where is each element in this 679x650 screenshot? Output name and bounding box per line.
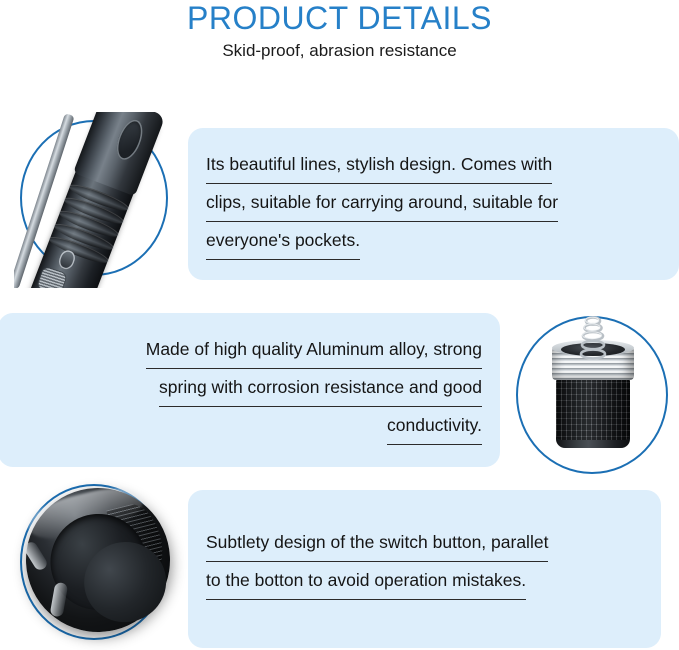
contact-spring-icon	[578, 314, 608, 360]
lanyard-slot	[50, 582, 69, 618]
feature-text-lines: Made of high quality Aluminum alloy, str…	[12, 331, 482, 445]
feature-text-line: Its beautiful lines, stylish design. Com…	[206, 146, 552, 184]
feature-text-line: spring with corrosion resistance and goo…	[159, 369, 482, 407]
feature-text-line: conductivity.	[387, 407, 482, 445]
feature-text-card-clip: Its beautiful lines, stylish design. Com…	[188, 128, 679, 280]
feature-text-lines: Subtlety design of the switch button, pa…	[206, 524, 649, 600]
flashlight-tail-switch-button-photo	[12, 482, 184, 642]
flashlight-barrel-with-pocket-clip-photo	[14, 112, 180, 288]
feature-text-line: clips, suitable for carrying around, sui…	[206, 184, 558, 222]
page-title: PRODUCT DETAILS	[0, 0, 679, 35]
head-oval-recess	[112, 116, 148, 163]
lanyard-slot	[22, 540, 49, 572]
feature-text-line: Subtlety design of the switch button, pa…	[206, 524, 548, 562]
photo-clip-mask	[14, 112, 180, 288]
knurled-grip-texture	[556, 376, 630, 440]
feature-text-lines: Its beautiful lines, stylish design. Com…	[206, 146, 667, 260]
feature-text-card-switch: Subtlety design of the switch button, pa…	[188, 490, 661, 648]
feature-text-line: Made of high quality Aluminum alloy, str…	[146, 331, 482, 369]
flashlight-head-section	[73, 112, 165, 196]
tail-cap-body	[556, 376, 630, 448]
feature-text-card-material: Made of high quality Aluminum alloy, str…	[0, 313, 500, 467]
page-header: PRODUCT DETAILS Skid-proof, abrasion res…	[0, 0, 679, 61]
page-subtitle: Skid-proof, abrasion resistance	[0, 35, 679, 61]
feature-text-line: to the botton to avoid operation mistake…	[206, 562, 526, 600]
feature-text-line: everyone's pockets.	[206, 222, 360, 260]
tail-switch-outer-ring	[11, 473, 186, 648]
flashlight-tail-cap-with-spring-photo	[512, 316, 672, 476]
